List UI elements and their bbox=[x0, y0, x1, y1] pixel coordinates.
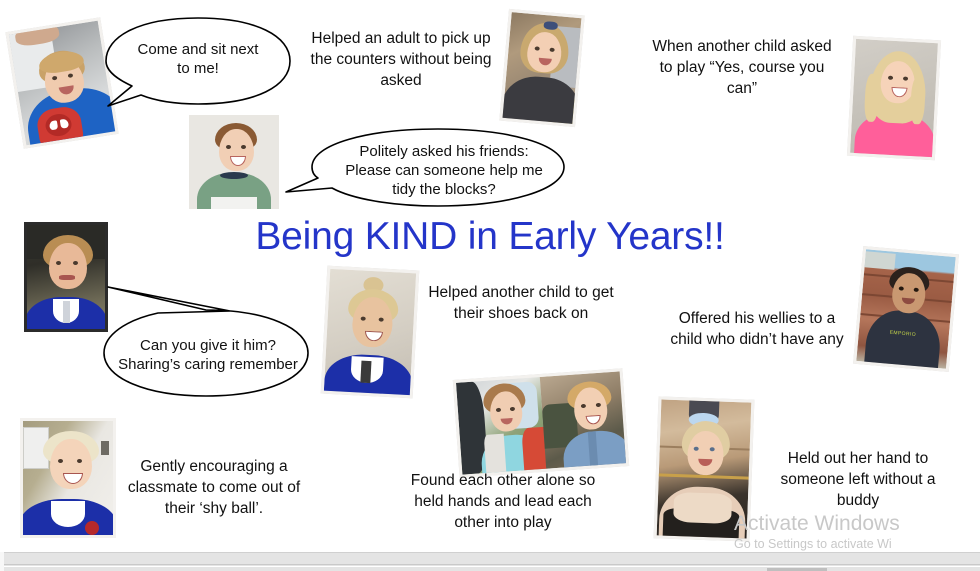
speech-bubble-politely-asked[interactable]: Politely asked his friends: Please can s… bbox=[282, 126, 570, 216]
photo-content bbox=[657, 399, 752, 538]
caption-shy-ball: Gently encouraging a classmate to come o… bbox=[110, 456, 318, 519]
photo-content bbox=[456, 371, 626, 474]
caption-held-hands: Found each other alone so held hands and… bbox=[390, 470, 616, 533]
photo-girl-pink-top[interactable] bbox=[847, 36, 941, 160]
photo-content bbox=[324, 269, 416, 395]
bottom-bar-left-edge bbox=[0, 552, 4, 571]
caption-wellies: Offered his wellies to a child who didn’… bbox=[652, 308, 862, 350]
photo-boy-green-tshirt[interactable] bbox=[186, 112, 282, 212]
bottom-status-bar bbox=[0, 552, 980, 571]
photo-boy-armani-tshirt[interactable]: EMPORIO ARMANI bbox=[853, 246, 959, 372]
presentation-slide: Come and sit next to me! Helped an adult… bbox=[0, 0, 980, 571]
photo-boy-blond-jumper[interactable] bbox=[20, 418, 116, 538]
caption-counters: Helped an adult to pick up the counters … bbox=[292, 28, 510, 91]
watermark-subtitle: Go to Settings to activate Wi bbox=[734, 536, 980, 552]
photo-content bbox=[23, 421, 113, 535]
divider-line-highlight bbox=[0, 566, 980, 567]
speech-bubble-text: Politely asked his friends: Please can s… bbox=[334, 142, 554, 199]
photo-content bbox=[850, 39, 938, 157]
photo-girl-party-dress[interactable] bbox=[654, 396, 755, 541]
windows-activation-watermark: Activate Windows Go to Settings to activ… bbox=[734, 511, 980, 552]
divider-line bbox=[0, 564, 980, 565]
photo-content: EMPORIO ARMANI bbox=[856, 249, 955, 368]
speech-bubble-come-and-sit[interactable]: Come and sit next to me! bbox=[98, 14, 298, 114]
caption-course-you-can: When another child asked to play “Yes, c… bbox=[638, 36, 846, 99]
speech-bubble-give-it-him[interactable]: Can you give it him? Sharing’s caring re… bbox=[88, 284, 316, 402]
photo-content bbox=[189, 115, 279, 209]
photo-girl-bun-uniform[interactable] bbox=[321, 266, 420, 399]
photo-content bbox=[503, 12, 582, 124]
watermark-title: Activate Windows bbox=[734, 511, 980, 536]
caption-buddy: Held out her hand to someone left withou… bbox=[754, 448, 962, 511]
speech-bubble-text: Can you give it him? Sharing’s caring re… bbox=[112, 336, 304, 374]
speech-bubble-text: Come and sit next to me! bbox=[116, 40, 280, 78]
photo-two-boys[interactable] bbox=[453, 368, 629, 478]
photo-girl-dark-top[interactable] bbox=[499, 9, 584, 127]
caption-shoes: Helped another child to get their shoes … bbox=[412, 282, 630, 324]
page-title: Being KIND in Early Years!! bbox=[0, 214, 980, 260]
slide-canvas: Come and sit next to me! Helped an adult… bbox=[0, 0, 980, 552]
